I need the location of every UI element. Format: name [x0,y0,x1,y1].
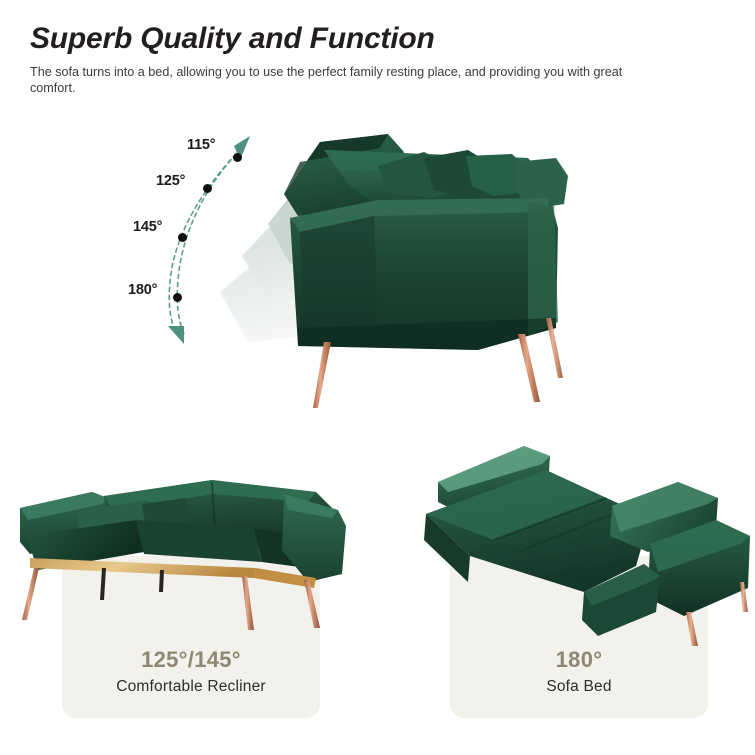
sofa-bed-illustration [398,440,750,650]
arc-arrow-bottom [168,326,184,344]
recliner-right-arm [282,494,346,582]
angle-dot-115 [233,153,242,162]
sofa-side-view-illustration [228,132,588,412]
arc-dashed-outer [177,148,242,334]
header-block: Superb Quality and Function The sofa tur… [30,22,670,97]
angle-dot-125 [203,184,212,193]
infographic-page: Superb Quality and Function The sofa tur… [0,0,755,755]
caption-sofa-bed: 180° Sofa Bed [450,649,708,695]
sofa-recliner-illustration [16,470,376,635]
angle-label-115: 115° [187,137,215,153]
page-subtitle: The sofa turns into a bed, allowing you … [30,64,630,97]
caption-sofa-bed-angle: 180° [450,649,708,671]
angle-label-125: 125° [156,173,185,189]
angle-dot-145 [178,233,187,242]
page-title: Superb Quality and Function [30,22,670,57]
caption-sofa-bed-text: Sofa Bed [450,679,708,695]
caption-recliner-text: Comfortable Recliner [62,679,320,695]
caption-recliner: 125°/145° Comfortable Recliner [62,649,320,695]
angle-label-145: 145° [133,219,162,235]
recline-diagram-section: 115° 125° 145° 180° [0,120,755,420]
angle-label-180: 180° [128,282,157,298]
angle-dot-180 [173,293,182,302]
sofa-main-body [290,198,558,350]
caption-recliner-angle: 125°/145° [62,649,320,671]
recline-arc-group: 115° 125° 145° 180° [120,130,280,345]
